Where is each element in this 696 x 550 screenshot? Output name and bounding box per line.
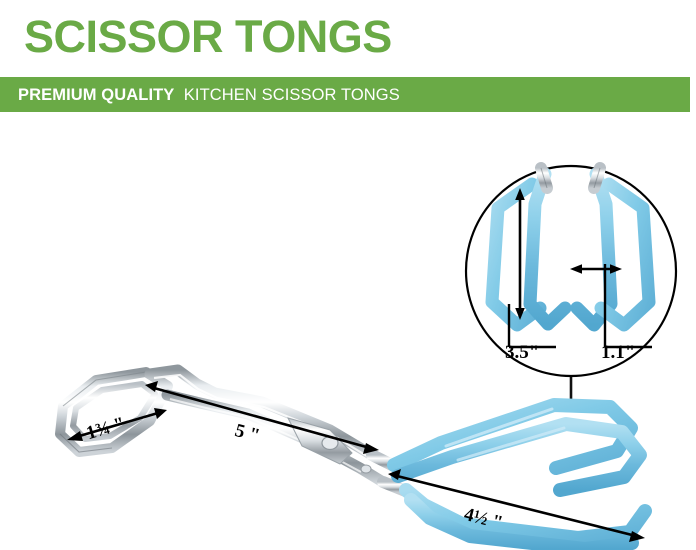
pivot-rivet-secondary: [361, 465, 371, 473]
detail-circle-group: [466, 166, 676, 412]
title-block: SCISSOR TONGS: [0, 0, 696, 77]
tongs-product-group: [60, 370, 645, 549]
detail-label-right: 1.1": [601, 342, 635, 364]
product-infographic: SCISSOR TONGS PREMIUM QUALITY KITCHEN SC…: [0, 0, 696, 550]
detail-label-left: 3.5": [505, 342, 539, 364]
banner-strong-text: PREMIUM QUALITY: [18, 86, 174, 104]
product-figure: 3.5" 1.1" 1¾ " 5 " 4½ ": [0, 112, 696, 550]
page-title: SCISSOR TONGS: [24, 11, 392, 63]
blue-tong-arms: [394, 405, 645, 549]
subtitle-banner: PREMIUM QUALITY KITCHEN SCISSOR TONGS: [0, 77, 690, 112]
banner-light-text: KITCHEN SCISSOR TONGS: [184, 86, 400, 104]
product-illustration: [0, 112, 696, 550]
subtitle-text: PREMIUM QUALITY KITCHEN SCISSOR TONGS: [18, 85, 400, 105]
